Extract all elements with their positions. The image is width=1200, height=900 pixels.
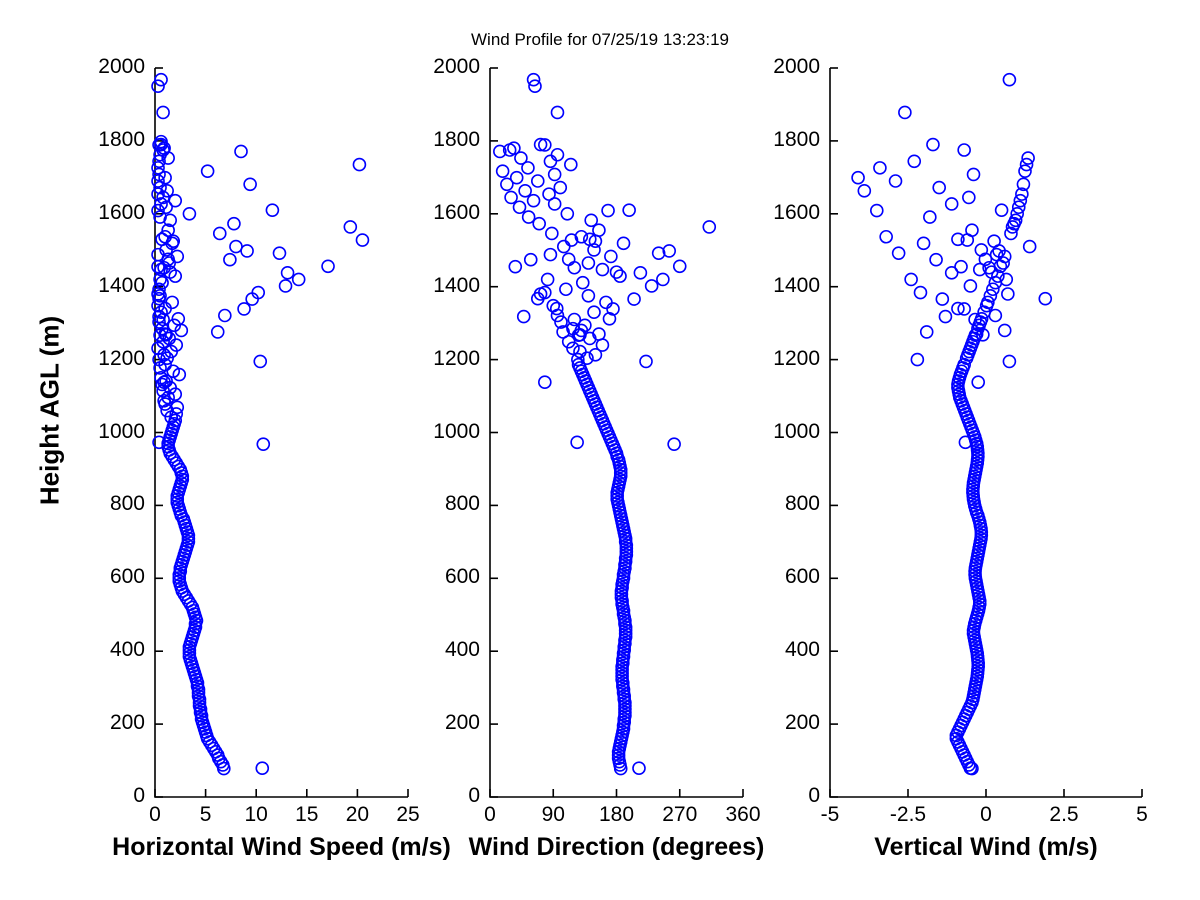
data-point [936, 293, 948, 305]
data-point [1003, 74, 1015, 86]
data-point [852, 172, 864, 184]
data-point [918, 237, 930, 249]
data-point [972, 376, 984, 388]
data-point [989, 310, 1001, 322]
data-point [930, 254, 942, 266]
x-tick-label: -2.5 [868, 803, 948, 827]
data-point [968, 168, 980, 180]
y-tick-label: 1800 [708, 128, 820, 152]
data-point [1024, 241, 1036, 253]
x-tick-label: 0 [946, 803, 1026, 827]
y-tick-label: 1600 [708, 201, 820, 225]
data-point [939, 311, 951, 323]
data-point [893, 247, 905, 259]
data-point [933, 182, 945, 194]
data-point [958, 144, 970, 156]
y-tick-label: 1200 [708, 347, 820, 371]
x-tick-label: 5 [1102, 803, 1182, 827]
data-point [964, 280, 976, 292]
data-point [999, 324, 1011, 336]
data-point [1003, 355, 1015, 367]
data-point [858, 185, 870, 197]
data-point [946, 198, 958, 210]
data-point [955, 261, 967, 273]
data-point [966, 224, 978, 236]
plot-panel-3 [0, 0, 1200, 900]
data-point [1039, 293, 1051, 305]
data-point [914, 287, 926, 299]
data-point [963, 191, 975, 203]
axis-spine [830, 68, 1142, 797]
y-tick-label: 1000 [708, 420, 820, 444]
data-point [927, 139, 939, 151]
data-point [890, 175, 902, 187]
data-point [996, 204, 1008, 216]
x-axis-label-panel-3: Vertical Wind (m/s) [786, 833, 1186, 862]
data-point [880, 231, 892, 243]
data-point [905, 273, 917, 285]
y-tick-label: 600 [708, 565, 820, 589]
y-tick-label: 2000 [708, 55, 820, 79]
data-point [921, 326, 933, 338]
y-tick-label: 400 [708, 638, 820, 662]
x-tick-label: 2.5 [1024, 803, 1104, 827]
data-point [911, 354, 923, 366]
wind-profile-figure: Wind Profile for 07/25/19 13:23:19 Heigh… [0, 0, 1200, 900]
data-point [908, 155, 920, 167]
y-tick-label: 200 [708, 711, 820, 735]
data-series [852, 74, 1051, 775]
y-tick-label: 1400 [708, 274, 820, 298]
data-point [874, 162, 886, 174]
data-point [871, 205, 883, 217]
y-tick-label: 800 [708, 492, 820, 516]
data-point [899, 106, 911, 118]
data-point [1002, 288, 1014, 300]
data-point [924, 211, 936, 223]
x-tick-label: -5 [790, 803, 870, 827]
